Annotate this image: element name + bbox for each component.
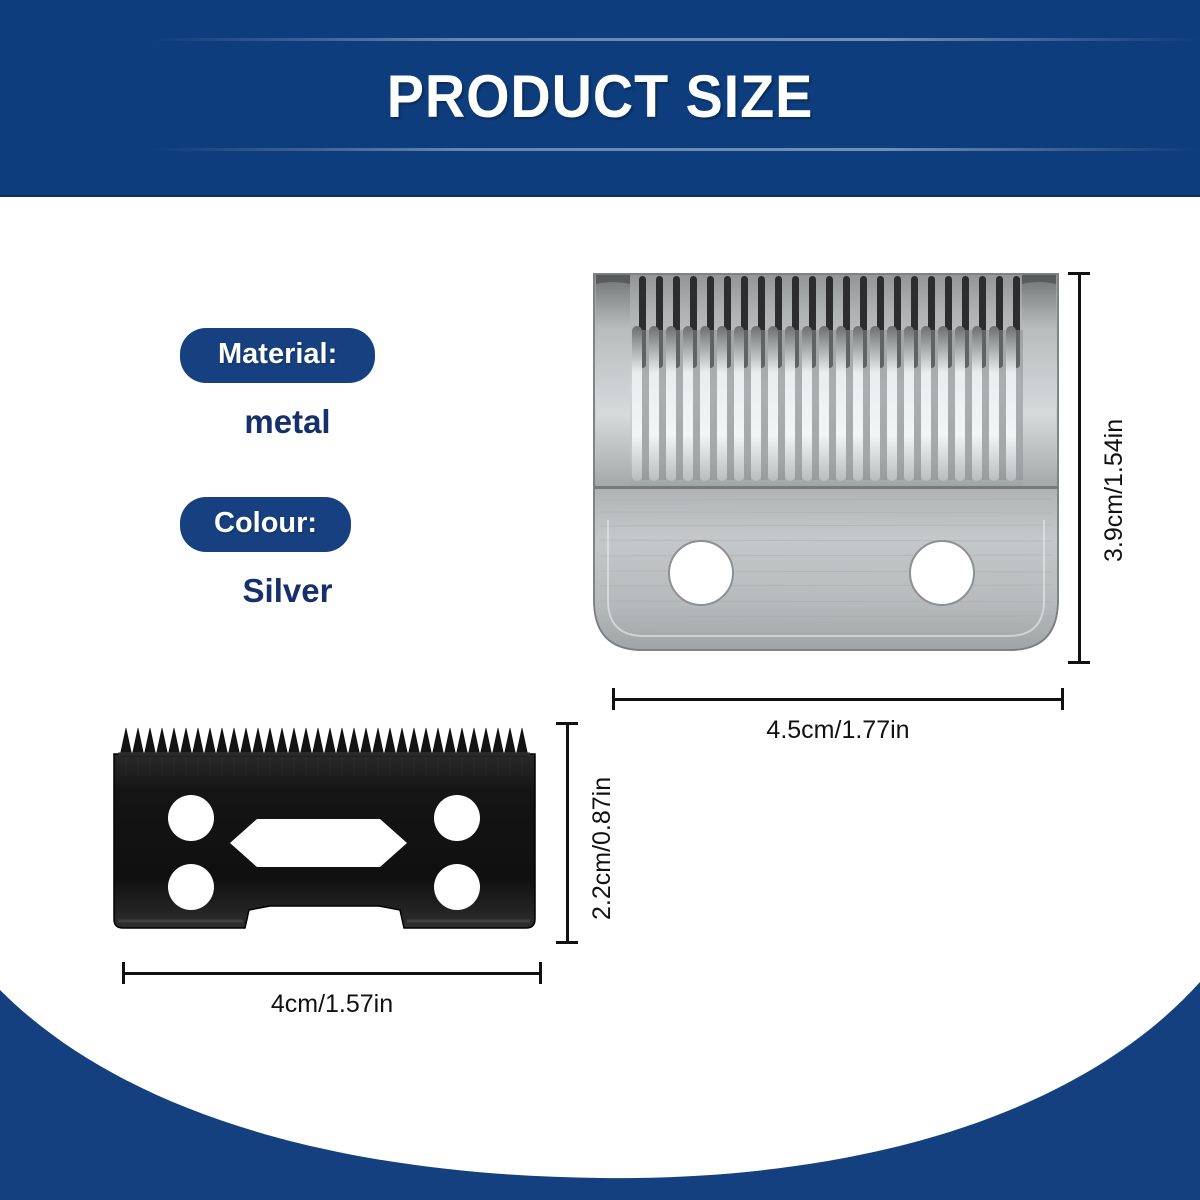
product-size-infographic: PRODUCT SIZE Material: metal Colour: Sil… (0, 0, 1200, 1200)
black-blade-image (112, 714, 537, 954)
dimension-cap-left (612, 688, 615, 710)
dimension-cap-top (1068, 272, 1090, 275)
dimension-line (566, 722, 569, 944)
dimension-silver-width-label: 4.5cm/1.77in (612, 716, 1064, 745)
silver-blade-teeth (632, 276, 1023, 481)
dimension-line (1078, 272, 1081, 664)
spec-material: Material: metal (180, 328, 395, 441)
dimension-line (612, 698, 1064, 701)
header-banner: PRODUCT SIZE (0, 0, 1200, 197)
spec-material-label: Material: (180, 328, 375, 383)
black-blade-teeth (120, 728, 528, 756)
spec-material-value: metal (180, 403, 395, 441)
header-bottom-hairline (0, 195, 1200, 197)
dimension-cap-bottom (556, 941, 578, 944)
silver-blade-image (590, 268, 1062, 668)
dimension-black-height-label: 2.2cm/0.87in (588, 777, 617, 920)
dimension-cap-right (1061, 688, 1064, 710)
spec-colour-value: Silver (180, 572, 395, 610)
page-title: PRODUCT SIZE (42, 62, 1158, 131)
dimension-silver-height-label: 3.9cm/1.54in (1100, 419, 1129, 562)
dimension-cap-top (556, 722, 578, 725)
spec-colour: Colour: Silver (180, 497, 395, 610)
black-blade-center-slot (230, 819, 407, 867)
dimension-cap-bottom (1068, 661, 1090, 664)
header-sheen-line-bottom (150, 148, 1200, 151)
footer-wave-shape (0, 982, 1200, 1200)
spec-colour-label: Colour: (180, 497, 351, 552)
footer-wave (0, 960, 1200, 1200)
black-blade-body (114, 728, 535, 928)
header-sheen-line-top (150, 38, 1200, 41)
silver-blade-body (590, 268, 1062, 654)
